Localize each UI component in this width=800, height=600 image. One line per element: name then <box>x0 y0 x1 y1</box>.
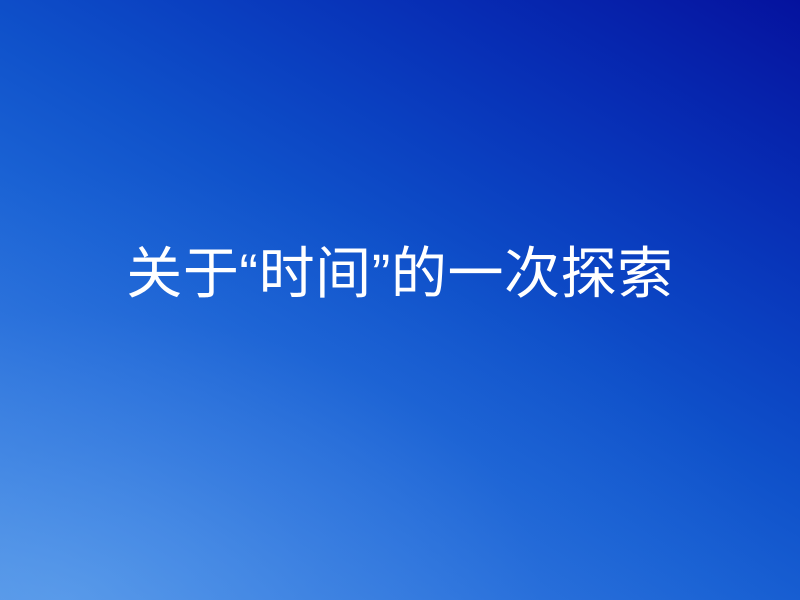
presentation-slide: 关于“时间”的一次探索 <box>0 0 800 600</box>
slide-background-wash <box>0 0 800 600</box>
